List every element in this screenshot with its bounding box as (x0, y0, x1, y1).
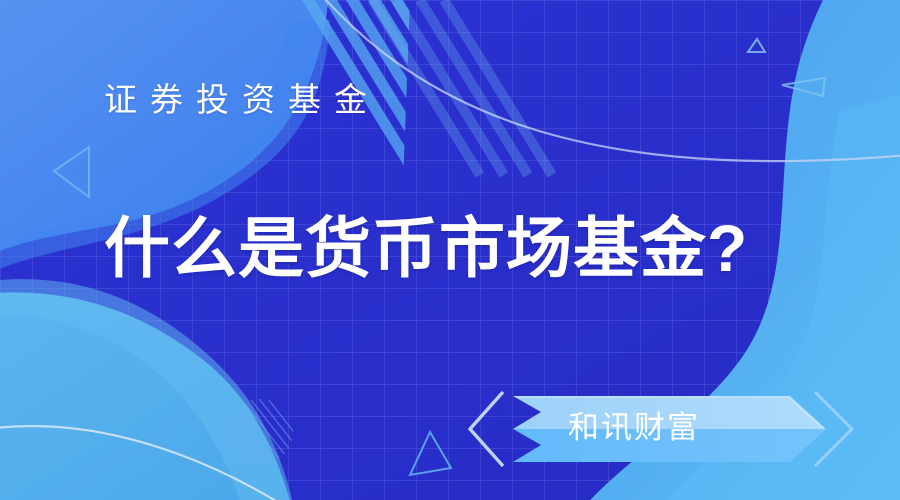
ribbon-banner (470, 392, 852, 466)
ribbon-top-half (513, 396, 826, 429)
promo-banner: 证券投资基金 什么是货币市场基金? 和讯财富 (0, 0, 900, 500)
hatched-circle (227, 399, 293, 465)
banner-artwork (0, 0, 900, 500)
ribbon-bottom-half (513, 429, 826, 462)
